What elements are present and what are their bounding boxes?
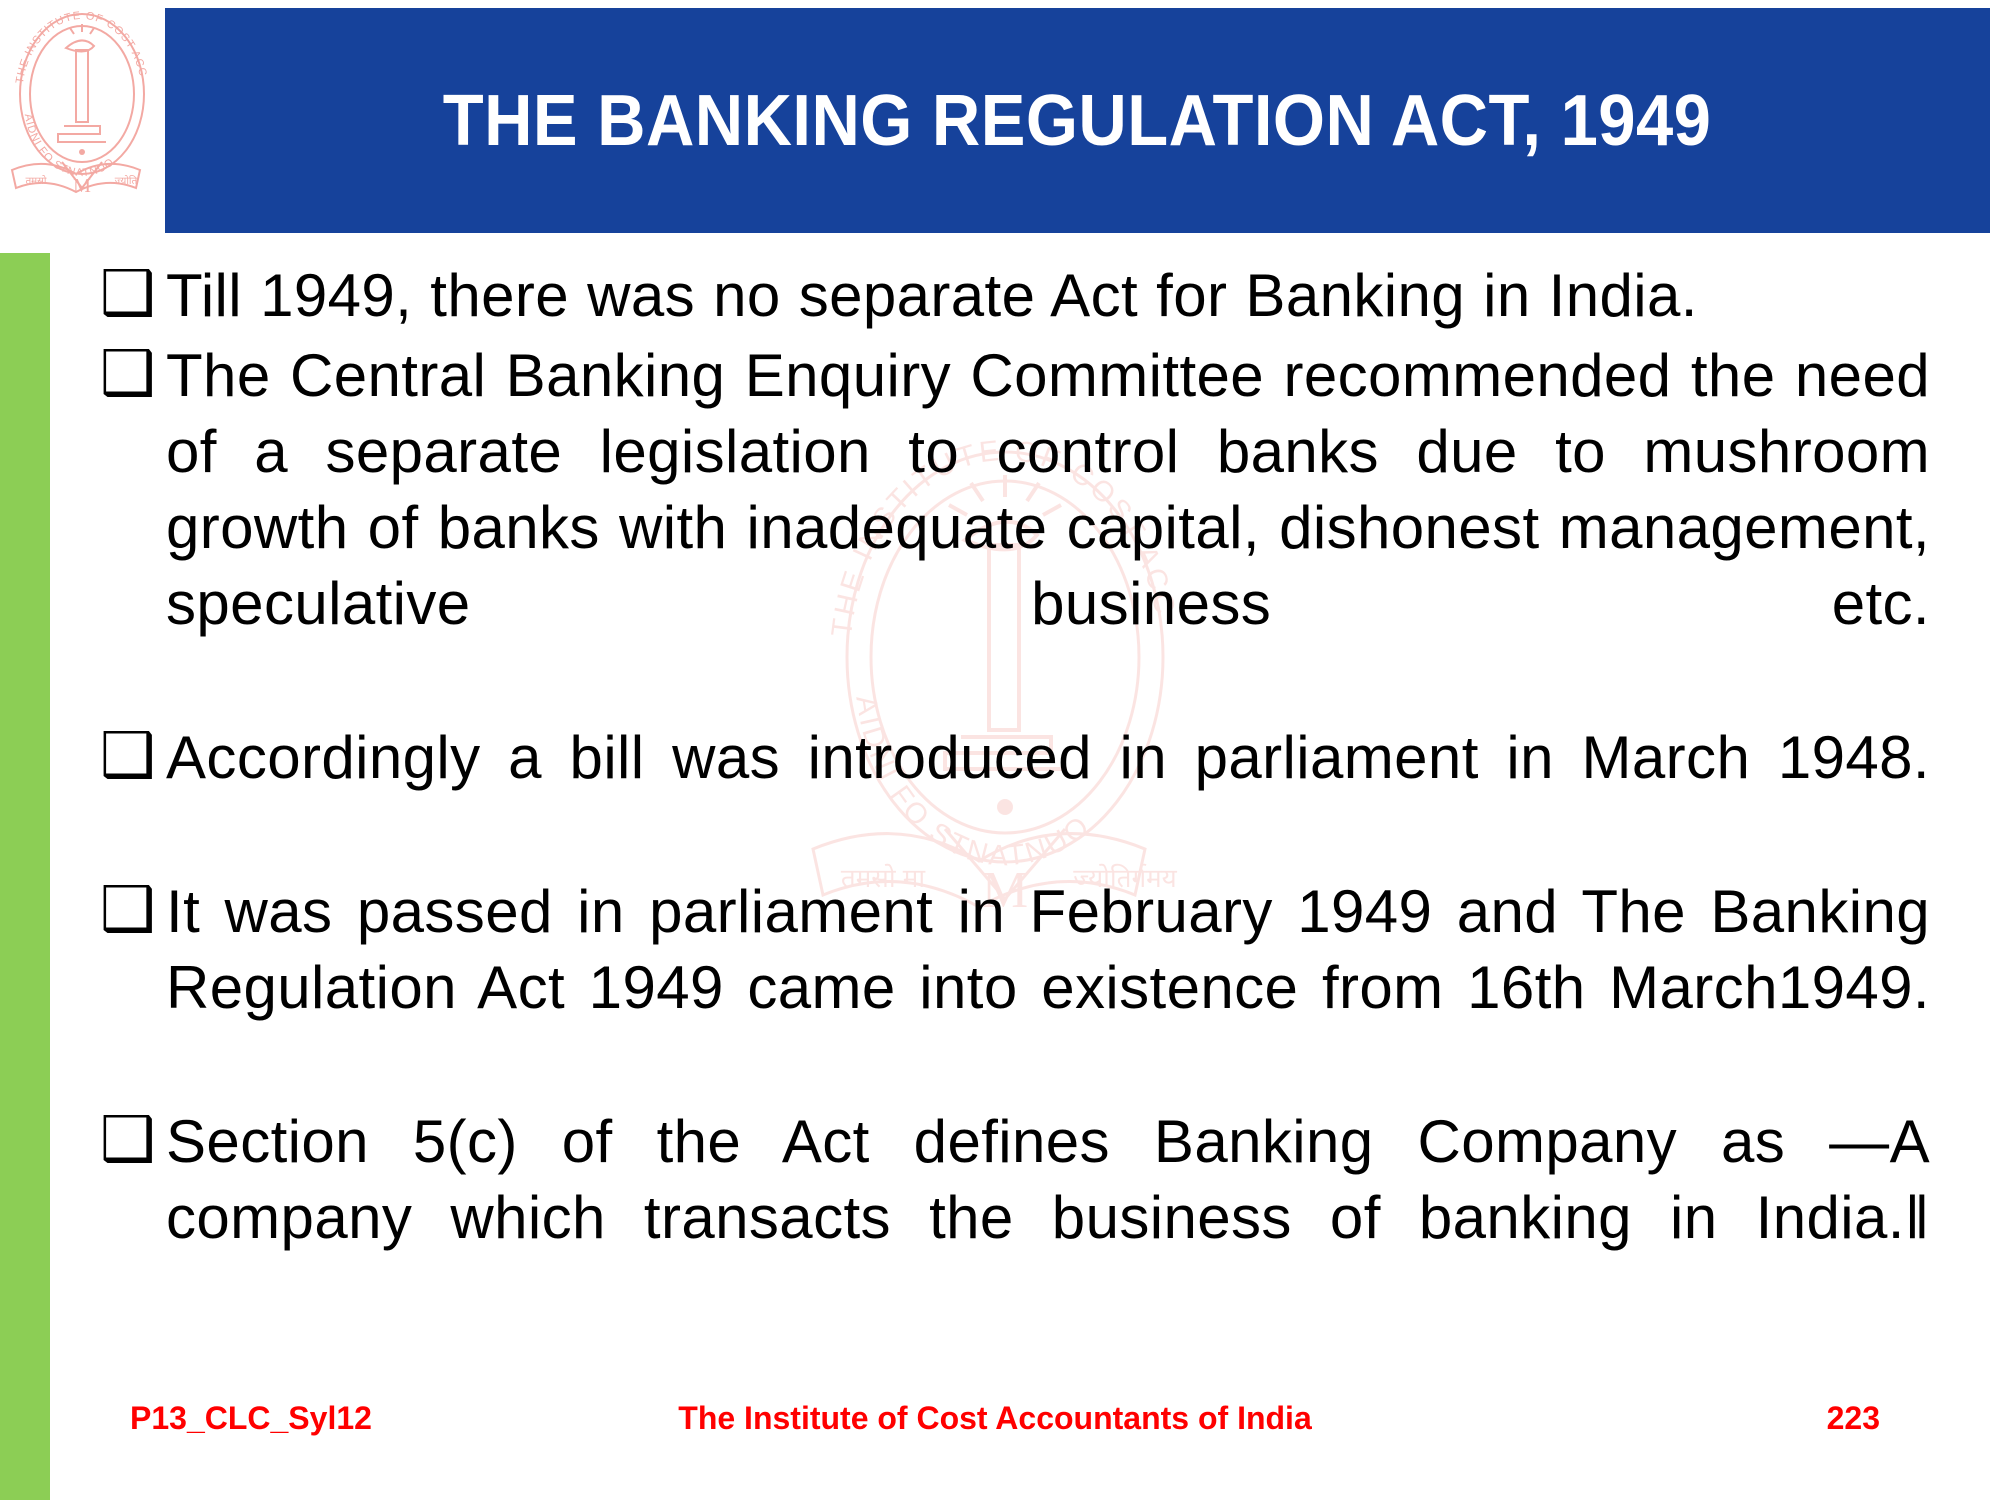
slide-footer: P13_CLC_Syl12 The Institute of Cost Acco… xyxy=(0,1398,1990,1458)
bullet-square-icon: ❑ xyxy=(100,716,166,794)
list-item-text: Section 5(c) of the Act defines Banking … xyxy=(166,1104,1930,1332)
list-item: ❑ Section 5(c) of the Act defines Bankin… xyxy=(100,1104,1930,1332)
list-item-text: Till 1949, there was no separate Act for… xyxy=(166,258,1930,334)
list-item-text: It was passed in parliament in February … xyxy=(166,874,1930,1102)
bullet-square-icon: ❑ xyxy=(100,1100,166,1178)
svg-text:THE INSTITUTE OF COST ACC: THE INSTITUTE OF COST ACC xyxy=(14,10,149,85)
list-item: ❑ It was passed in parliament in Februar… xyxy=(100,874,1930,1102)
footer-page-number: 223 xyxy=(1827,1398,1880,1438)
institute-logo-icon: THE INSTITUTE OF COST ACC AIDNI FO STNAT… xyxy=(2,2,162,197)
page-title: THE BANKING REGULATION ACT, 1949 xyxy=(443,85,1712,157)
left-accent-bar xyxy=(0,253,50,1500)
bullet-square-icon: ❑ xyxy=(100,254,166,332)
svg-text:ज्योति: ज्योति xyxy=(115,175,138,187)
list-item-text: The Central Banking Enquiry Committee re… xyxy=(166,338,1930,718)
slide-canvas: THE INSTITUTE OF COST ACC AIDNI FO STNAT… xyxy=(0,0,1990,1500)
bullet-list: ❑ Till 1949, there was no separate Act f… xyxy=(100,258,1930,1338)
list-item-text: Accordingly a bill was introduced in par… xyxy=(166,720,1930,872)
svg-text:तमसो: तमसो xyxy=(25,175,46,187)
svg-text:AIDNI FO STNATNUO: AIDNI FO STNATNUO xyxy=(22,113,117,179)
title-banner: THE BANKING REGULATION ACT, 1949 xyxy=(165,8,1990,233)
list-item: ❑ Accordingly a bill was introduced in p… xyxy=(100,720,1930,872)
list-item: ❑ The Central Banking Enquiry Committee … xyxy=(100,338,1930,718)
list-item: ❑ Till 1949, there was no separate Act f… xyxy=(100,258,1930,336)
footer-institute-name: The Institute of Cost Accountants of Ind… xyxy=(0,1398,1990,1438)
bullet-square-icon: ❑ xyxy=(100,870,166,948)
svg-text:M: M xyxy=(73,175,91,197)
bullet-square-icon: ❑ xyxy=(100,334,166,412)
